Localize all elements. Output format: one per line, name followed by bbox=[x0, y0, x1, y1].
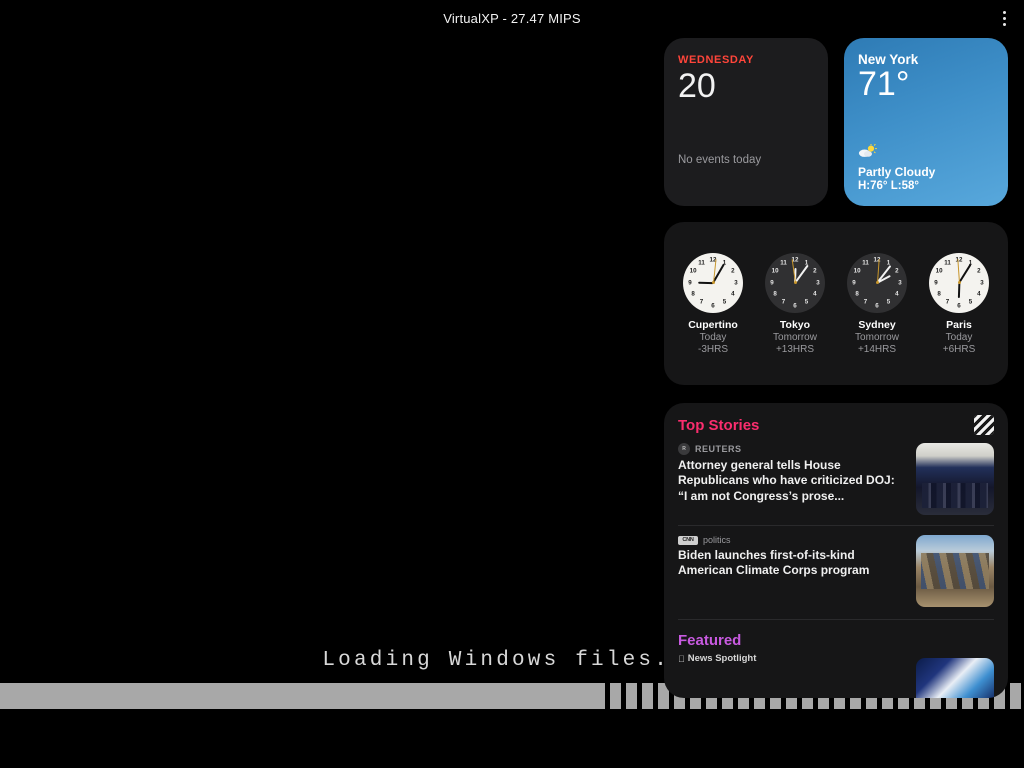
clock-numeral: 10 bbox=[690, 268, 697, 275]
clock-numeral: 4 bbox=[731, 291, 734, 298]
clock-numeral: 4 bbox=[977, 291, 980, 298]
menu-dot bbox=[1003, 11, 1006, 14]
clock-day-label: Tomorrow bbox=[855, 332, 899, 343]
clock-numeral: 6 bbox=[957, 302, 960, 309]
news-section-title: Top Stories bbox=[678, 417, 994, 434]
menu-dot bbox=[1003, 17, 1006, 20]
clock-numeral: 6 bbox=[711, 302, 714, 309]
news-featured-thumbnail bbox=[916, 658, 994, 698]
clock-numeral: 7 bbox=[782, 299, 785, 306]
clock-numeral: 3 bbox=[898, 279, 901, 286]
news-featured-subtitle: News Spotlight bbox=[688, 653, 757, 664]
clock-day-label: Tomorrow bbox=[773, 332, 817, 343]
clock-day-label: Today bbox=[700, 332, 727, 343]
clock-numeral: 3 bbox=[980, 279, 983, 286]
clock-numeral: 5 bbox=[887, 299, 890, 306]
clock-city-label: Cupertino bbox=[688, 319, 738, 331]
window-title-bar: VirtualXP - 27.47 MIPS bbox=[0, 0, 1024, 36]
news-source-row: CNN politics bbox=[678, 535, 906, 545]
news-thumbnail bbox=[916, 535, 994, 607]
clock-numeral: 7 bbox=[864, 299, 867, 306]
apple-news-icon bbox=[974, 415, 994, 435]
clock-numeral: 5 bbox=[723, 299, 726, 306]
clock-numeral: 9 bbox=[934, 279, 937, 286]
clock-numeral: 8 bbox=[855, 291, 858, 298]
clock-numeral: 10 bbox=[936, 268, 943, 275]
calendar-events-text: No events today bbox=[678, 154, 814, 166]
news-story[interactable]: CNN politics Biden launches first-of-its… bbox=[678, 525, 994, 617]
clock-hand-hour bbox=[698, 281, 713, 284]
clock-pivot bbox=[712, 281, 715, 284]
news-headline: Biden launches first-of-its-kind America… bbox=[678, 548, 906, 579]
news-headline: Attorney general tells House Republicans… bbox=[678, 458, 906, 504]
clock-numeral: 10 bbox=[772, 268, 779, 275]
clock-numeral: 7 bbox=[946, 299, 949, 306]
clock-numeral: 2 bbox=[813, 268, 816, 275]
clock-city-label: Tokyo bbox=[780, 319, 810, 331]
cnn-logo-icon: CNN bbox=[678, 536, 698, 545]
news-divider bbox=[678, 619, 994, 620]
weather-widget[interactable]: New York 71° Partly Cloudy H:76° L:58° bbox=[844, 38, 1008, 206]
calendar-widget[interactable]: WEDNESDAY 20 No events today bbox=[664, 38, 828, 206]
clock-face: 121234567891011 bbox=[765, 253, 825, 313]
world-clock-cupertino[interactable]: 121234567891011CupertinoToday-3HRS bbox=[675, 253, 751, 355]
clock-numeral: 3 bbox=[734, 279, 737, 286]
clock-city-label: Paris bbox=[946, 319, 972, 331]
clock-numeral: 6 bbox=[793, 302, 796, 309]
clock-numeral: 5 bbox=[805, 299, 808, 306]
clock-numeral: 7 bbox=[700, 299, 703, 306]
calendar-day-number: 20 bbox=[678, 68, 814, 105]
clock-numeral: 11 bbox=[698, 259, 705, 266]
news-source-name: REUTERS bbox=[695, 444, 742, 454]
clock-numeral: 4 bbox=[895, 291, 898, 298]
weather-condition: Partly Cloudy bbox=[858, 165, 994, 179]
clock-hand-hour bbox=[957, 282, 960, 297]
clock-offset-label: -3HRS bbox=[698, 344, 728, 355]
clock-face: 121234567891011 bbox=[847, 253, 907, 313]
weather-high-low: H:76° L:58° bbox=[858, 180, 994, 192]
clock-numeral: 8 bbox=[773, 291, 776, 298]
clock-city-label: Sydney bbox=[858, 319, 895, 331]
news-story[interactable]: R REUTERS Attorney general tells House R… bbox=[678, 434, 994, 525]
kebab-menu-icon[interactable] bbox=[994, 8, 1014, 28]
clock-numeral: 6 bbox=[875, 302, 878, 309]
clock-face: 121234567891011 bbox=[683, 253, 743, 313]
clock-numeral: 5 bbox=[969, 299, 972, 306]
clock-numeral: 2 bbox=[895, 268, 898, 275]
news-featured-title: Featured bbox=[678, 632, 994, 649]
news-story-body: R REUTERS Attorney general tells House R… bbox=[678, 443, 906, 515]
clock-day-label: Today bbox=[946, 332, 973, 343]
widget-row-top: WEDNESDAY 20 No events today New York 71… bbox=[664, 38, 1008, 206]
news-thumbnail bbox=[916, 443, 994, 515]
world-clock-paris[interactable]: 121234567891011ParisToday+6HRS bbox=[921, 253, 997, 355]
clock-numeral: 11 bbox=[862, 259, 869, 266]
clock-hand-min bbox=[794, 264, 809, 283]
news-story-body: CNN politics Biden launches first-of-its… bbox=[678, 535, 906, 607]
clock-face: 121234567891011 bbox=[929, 253, 989, 313]
news-widget[interactable]: Top Stories R REUTERS Attorney general t… bbox=[664, 403, 1008, 698]
menu-dot bbox=[1003, 23, 1006, 26]
apple-logo-icon:  bbox=[678, 654, 685, 664]
clock-pivot bbox=[794, 281, 797, 284]
calendar-weekday: WEDNESDAY bbox=[678, 54, 814, 66]
clock-numeral: 2 bbox=[977, 268, 980, 275]
clock-numeral: 11 bbox=[780, 259, 787, 266]
world-clock-widget[interactable]: 121234567891011CupertinoToday-3HRS121234… bbox=[664, 222, 1008, 385]
clock-numeral: 9 bbox=[852, 279, 855, 286]
clock-numeral: 8 bbox=[691, 291, 694, 298]
clock-numeral: 3 bbox=[816, 279, 819, 286]
progress-fill bbox=[0, 683, 594, 709]
clock-offset-label: +14HRS bbox=[858, 344, 896, 355]
clock-offset-label: +13HRS bbox=[776, 344, 814, 355]
news-source-row: R REUTERS bbox=[678, 443, 906, 455]
clock-numeral: 9 bbox=[688, 279, 691, 286]
window-title: VirtualXP - 27.47 MIPS bbox=[443, 11, 581, 26]
clock-numeral: 11 bbox=[944, 259, 951, 266]
clock-numeral: 4 bbox=[813, 291, 816, 298]
clock-offset-label: +6HRS bbox=[943, 344, 976, 355]
clock-numeral: 9 bbox=[770, 279, 773, 286]
clock-numeral: 8 bbox=[937, 291, 940, 298]
world-clock-sydney[interactable]: 121234567891011SydneyTomorrow+14HRS bbox=[839, 253, 915, 355]
world-clock-tokyo[interactable]: 121234567891011TokyoTomorrow+13HRS bbox=[757, 253, 833, 355]
clock-hand-min bbox=[958, 263, 971, 283]
clock-pivot bbox=[876, 281, 879, 284]
clock-pivot bbox=[958, 281, 961, 284]
widget-column: WEDNESDAY 20 No events today New York 71… bbox=[664, 38, 1008, 698]
news-source-section: politics bbox=[703, 535, 731, 545]
partly-cloudy-icon bbox=[858, 144, 994, 162]
weather-temperature: 71° bbox=[858, 65, 994, 104]
clock-numeral: 2 bbox=[731, 268, 734, 275]
clock-numeral: 10 bbox=[854, 268, 861, 275]
reuters-logo-icon: R bbox=[678, 443, 690, 455]
